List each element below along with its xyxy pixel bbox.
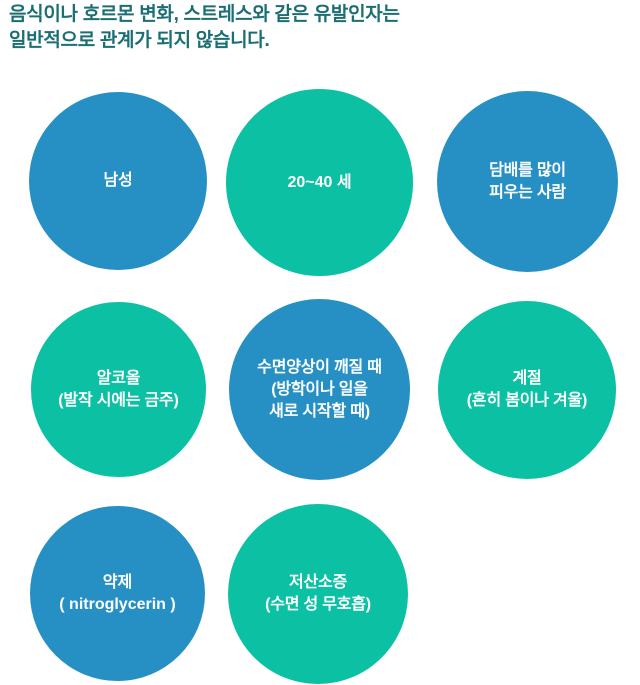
bubble-label: 20~40 세: [283, 172, 355, 194]
bubble-sleep-pattern: 수면양상이 깨질 때 (방학이나 일을 새로 시작할 때): [229, 299, 410, 480]
bubble-label: 수면양상이 깨질 때 (방학이나 일을 새로 시작할 때): [253, 357, 386, 423]
bubble-age-20-40: 20~40 세: [226, 89, 413, 276]
bubble-label: 약제 ( nitroglycerin ): [55, 572, 179, 616]
bubble-label: 알코올 (발작 시에는 금주): [54, 368, 182, 412]
bubble-medication: 약제 ( nitroglycerin ): [30, 506, 205, 681]
bubble-grid: 남성 20~40 세 담배를 많이 피우는 사람 알코올 (발작 시에는 금주)…: [0, 0, 640, 685]
bubble-alcohol: 알코올 (발작 시에는 금주): [31, 302, 206, 477]
bubble-label: 계절 (흔히 봄이나 겨울): [463, 368, 591, 412]
bubble-heavy-smoker: 담배를 많이 피우는 사람: [437, 91, 618, 272]
bubble-label: 담배를 많이 피우는 사람: [485, 160, 570, 204]
bubble-season: 계절 (흔히 봄이나 겨울): [438, 301, 616, 479]
bubble-label: 남성: [99, 170, 136, 192]
bubble-hypoxia: 저산소증 (수면 성 무호흡): [228, 504, 408, 684]
bubble-male: 남성: [29, 92, 207, 270]
bubble-label: 저산소증 (수면 성 무호흡): [261, 572, 375, 616]
